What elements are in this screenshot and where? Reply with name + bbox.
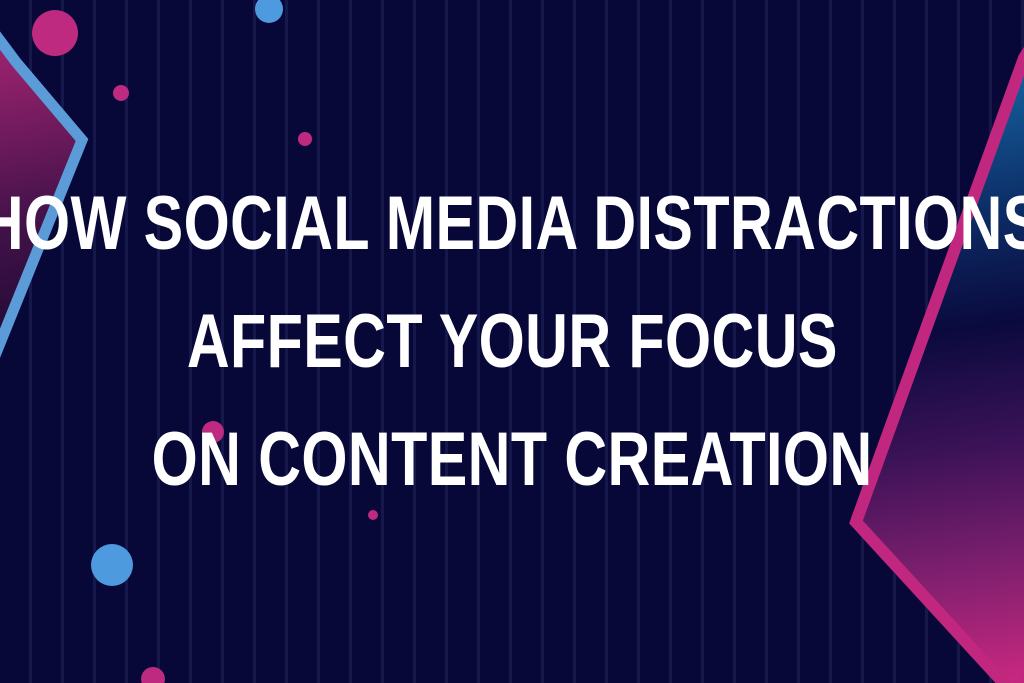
dot-magenta-bottom-left (141, 667, 165, 683)
dot-blue-top (255, 0, 283, 23)
dot-magenta-mid (202, 421, 224, 443)
dot-magenta-tiny-mid (368, 510, 378, 520)
dot-blue-bottom-left (91, 544, 133, 586)
dot-magenta-small-left (113, 85, 129, 101)
banner-canvas: HOW SOCIAL MEDIA DISTRACTIONS AFFECT YOU… (0, 0, 1024, 683)
decorative-dots-layer (0, 0, 1024, 683)
dot-magenta-top-left (32, 10, 78, 56)
dot-magenta-small-upper (298, 132, 312, 146)
